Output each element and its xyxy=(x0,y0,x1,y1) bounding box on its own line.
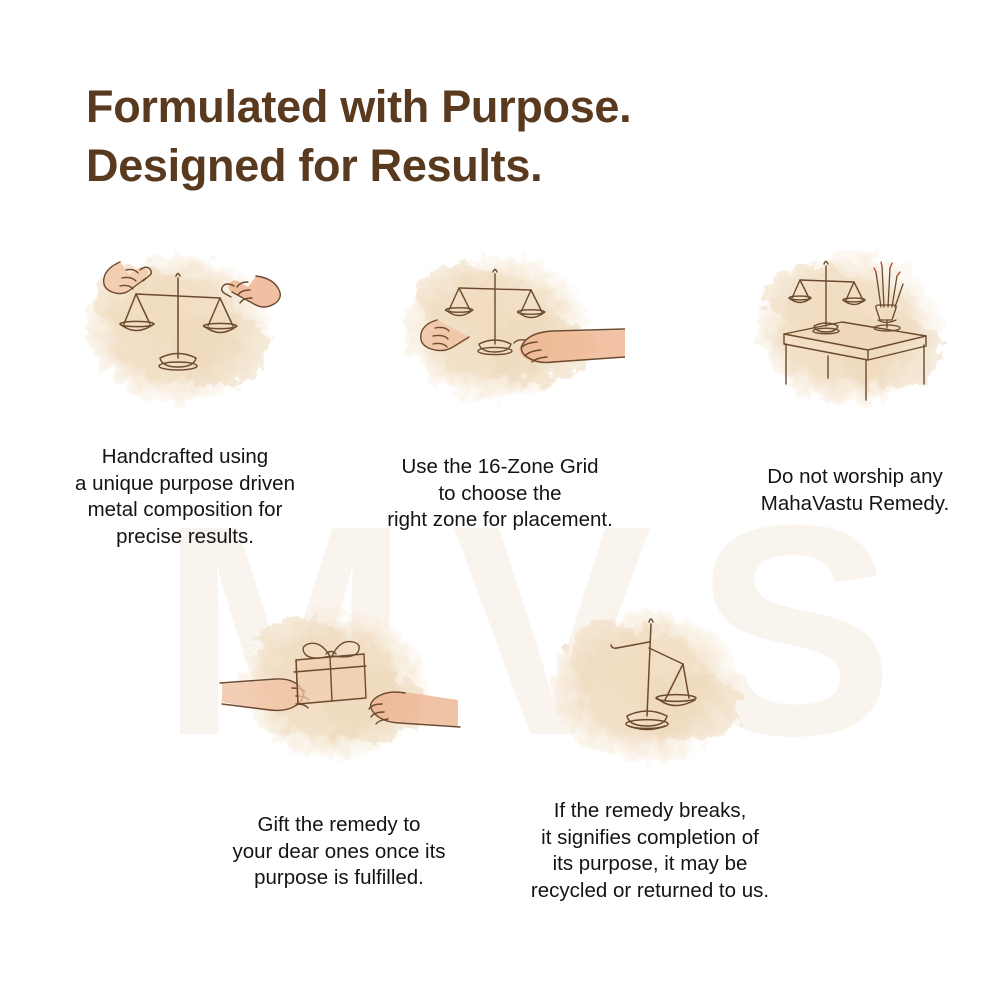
caption-line: precise results. xyxy=(75,524,295,551)
broken-balance-scale-icon xyxy=(525,588,775,788)
caption-line: to choose the xyxy=(387,481,613,508)
feature-card-broken-remedy: If the remedy breaks, it signifies compl… xyxy=(523,588,777,905)
caption-line: Use the 16-Zone Grid xyxy=(387,454,613,481)
caption-line: purpose is fulfilled. xyxy=(232,865,445,892)
promo-graphic: MVS Formulated with Purpose. Designed fo… xyxy=(0,0,1000,1000)
caption-line: recycled or returned to us. xyxy=(531,878,769,905)
feature-card-gift: Gift the remedy to your dear ones once i… xyxy=(212,588,466,892)
caption-line: metal composition for xyxy=(75,497,295,524)
caption-line: it signifies completion of xyxy=(531,825,769,852)
hand-placing-balance-scale-icon xyxy=(375,232,625,432)
caption-line: its purpose, it may be xyxy=(531,851,769,878)
balance-scale-on-table-with-incense-icon xyxy=(730,232,980,432)
caption-line: a unique purpose driven xyxy=(75,471,295,498)
page-title-line-1: Formulated with Purpose. xyxy=(86,78,926,137)
feature-card-zone-grid-caption: Use the 16-Zone Grid to choose the right… xyxy=(387,454,613,534)
feature-card-no-worship: Do not worship any MahaVastu Remedy. xyxy=(728,232,982,517)
caption-line: MahaVastu Remedy. xyxy=(761,491,949,518)
feature-card-broken-remedy-caption: If the remedy breaks, it signifies compl… xyxy=(531,798,769,905)
feature-card-gift-caption: Gift the remedy to your dear ones once i… xyxy=(232,812,445,892)
feature-card-handcrafted: Handcrafted using a unique purpose drive… xyxy=(58,232,312,551)
caption-line: your dear ones once its xyxy=(232,839,445,866)
caption-line: If the remedy breaks, xyxy=(531,798,769,825)
caption-line: Handcrafted using xyxy=(75,444,295,471)
feature-card-no-worship-caption: Do not worship any MahaVastu Remedy. xyxy=(761,464,949,517)
feature-card-handcrafted-caption: Handcrafted using a unique purpose drive… xyxy=(75,444,295,551)
page-title-line-2: Designed for Results. xyxy=(86,137,926,196)
caption-line: Do not worship any xyxy=(761,464,949,491)
page-title: Formulated with Purpose. Designed for Re… xyxy=(86,78,926,195)
caption-line: Gift the remedy to xyxy=(232,812,445,839)
caption-line: right zone for placement. xyxy=(387,507,613,534)
hands-crafting-balance-scale-icon xyxy=(60,232,310,432)
hands-exchanging-gift-box-icon xyxy=(214,588,464,788)
feature-card-zone-grid: Use the 16-Zone Grid to choose the right… xyxy=(373,232,627,534)
